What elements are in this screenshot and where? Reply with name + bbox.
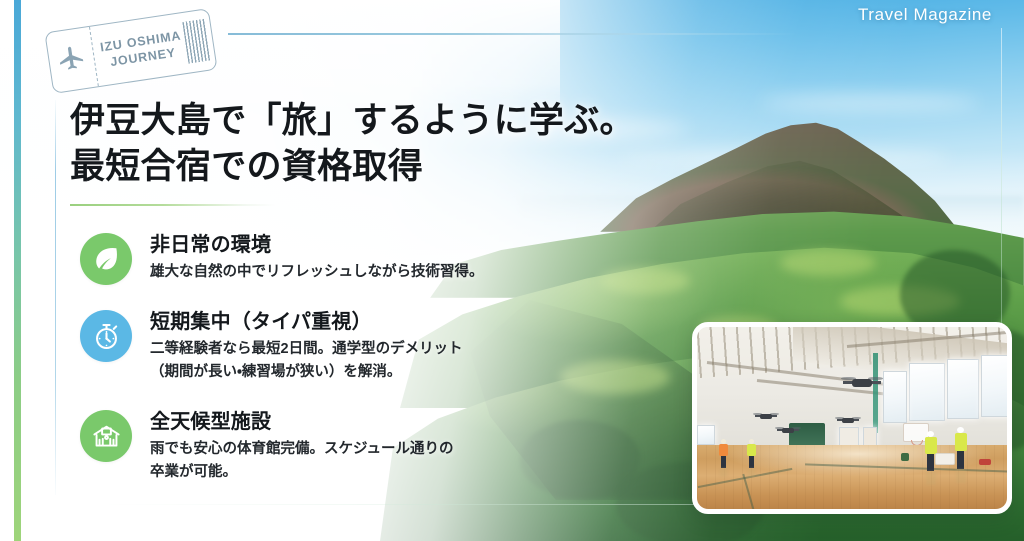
feature-title: 短期集中（タイパ重視） (150, 309, 463, 335)
feature-item-all-weather: 全天候型施設 雨でも安心の体育館完備。スケジュール通りの 卒業が可能。 (80, 407, 600, 485)
feature-text-block: 非日常の環境 雄大な自然の中でリフレッシュしながら技術習得。 (150, 230, 484, 284)
feature-desc-line: 雄大な自然の中でリフレッシュしながら技術習得。 (150, 261, 484, 284)
gymnasium-scene (697, 327, 1007, 509)
feature-desc-line: 雨でも安心の体育館完備。スケジュール通りの (150, 438, 453, 461)
left-accent-bar (14, 0, 21, 541)
drone-large (843, 377, 881, 389)
feature-desc-line: （期間が長い・練習場が狭い）を解消。 (150, 361, 463, 384)
drone-body (842, 418, 854, 423)
gym-window (883, 371, 907, 423)
gym-window (947, 359, 979, 419)
headline-line-2: 最短合宿での資格取得 (70, 144, 670, 190)
equipment-box (901, 453, 909, 461)
feature-description: 二等経験者なら最短2日間。通学型のデメリット （期間が長い・練習場が狭い）を解消… (150, 338, 463, 385)
person-reflection (956, 469, 966, 483)
feature-item-environment: 非日常の環境 雄大な自然の中でリフレッシュしながら技術習得。 (80, 230, 600, 285)
drone (837, 417, 859, 424)
leaf-icon (80, 233, 132, 285)
badge-horizontal-rule (228, 33, 798, 35)
gymnasium-icon (80, 410, 132, 462)
person-legs (957, 451, 964, 469)
person-legs (749, 456, 754, 468)
feature-list: 非日常の環境 雄大な自然の中でリフレッシュしながら技術習得。 (80, 230, 600, 507)
feature-title: 全天候型施設 (150, 409, 453, 435)
person-reflection (926, 471, 936, 485)
person-legs (721, 456, 726, 468)
feature-text-block: 全天候型施設 雨でも安心の体育館完備。スケジュール通りの 卒業が可能。 (150, 407, 453, 485)
gym-pillar (873, 353, 878, 433)
person-vest (719, 444, 728, 456)
page-title: 伊豆大島で「旅」するように学ぶ。 最短合宿での資格取得 (70, 98, 670, 190)
drone (777, 427, 799, 434)
person-reflection (720, 468, 727, 477)
feature-item-short-intensive: 短期集中（タイパ重視） 二等経験者なら最短2日間。通学型のデメリット （期間が長… (80, 307, 600, 385)
drone-body (852, 379, 872, 387)
gym-window (697, 425, 715, 445)
airplane-icon (54, 40, 89, 79)
magazine-label: Travel Magazine (858, 5, 992, 25)
headline-divider (70, 204, 275, 206)
person-vest (747, 444, 756, 456)
stopwatch-icon (80, 310, 132, 362)
gym-window (981, 355, 1007, 417)
equipment-bag (979, 459, 991, 465)
drone (755, 413, 777, 420)
person-vest (925, 437, 937, 454)
gym-window (909, 363, 945, 421)
ticket-text-block: IZU OSHIMA JOURNEY (92, 28, 187, 71)
feature-desc-line: 卒業が可能。 (150, 461, 453, 484)
travel-magazine-slide: Travel Magazine IZU OSHIMA JOURNEY 伊豆大島で… (0, 0, 1024, 541)
feature-desc-line: 二等経験者なら最短2日間。通学型のデメリット (150, 338, 463, 361)
person-reflection (748, 468, 755, 477)
drone-body (760, 414, 772, 419)
feature-text-block: 短期集中（タイパ重視） 二等経験者なら最短2日間。通学型のデメリット （期間が長… (150, 307, 463, 385)
left-hairline-rule (55, 100, 56, 495)
feature-description: 雨でも安心の体育館完備。スケジュール通りの 卒業が可能。 (150, 438, 453, 485)
headline-line-1: 伊豆大島で「旅」するように学ぶ。 (70, 98, 670, 144)
gymnasium-inset-photo (692, 322, 1012, 514)
person-vest (955, 433, 967, 451)
person-legs (927, 454, 934, 471)
feature-description: 雄大な自然の中でリフレッシュしながら技術習得。 (150, 261, 484, 284)
feature-title: 非日常の環境 (150, 232, 484, 258)
equipment-case (935, 453, 955, 465)
drone-body (782, 428, 794, 433)
